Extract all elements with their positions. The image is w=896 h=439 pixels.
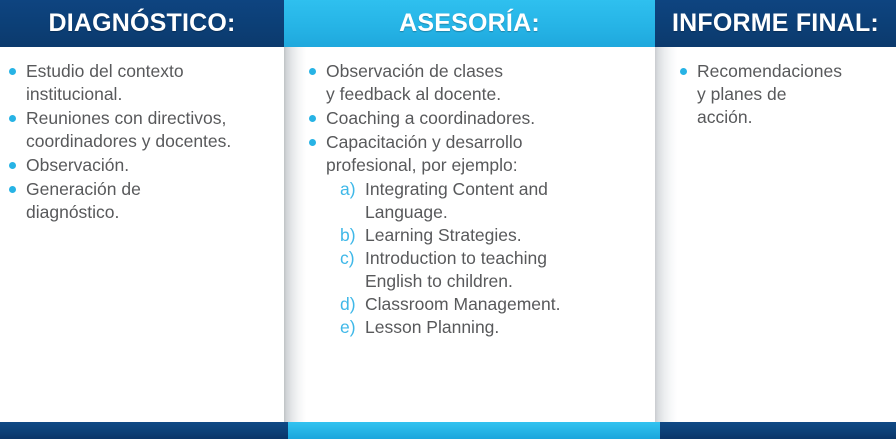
column-informe-final: Recomendaciones y planes de acción. [655, 47, 896, 422]
header-diagnostico-label: DIAGNÓSTICO: [48, 11, 235, 36]
column-diagnostico: Estudio del contexto institucional. Reun… [0, 47, 284, 422]
sublist-item: b) Learning Strategies. [340, 224, 645, 247]
bullet-dot-icon [9, 115, 16, 122]
list-item-line: Coaching a coordinadores. [326, 107, 645, 130]
list-item: Observación de clases y feedback al doce… [306, 60, 645, 106]
list-item-line: Recomendaciones [697, 60, 886, 83]
list-item-line: coordinadores y docentes. [26, 130, 276, 153]
sublist-item: c) Introduction to teaching English to c… [340, 247, 645, 293]
list-item: Reuniones con directivos, coordinadores … [6, 107, 276, 153]
list-item: Coaching a coordinadores. [306, 107, 645, 130]
list-item-line: acción. [697, 106, 886, 129]
header-informe-final-label: INFORME FINAL: [672, 11, 879, 36]
sublist-item-line: Lesson Planning. [365, 316, 645, 339]
list-item-line: Observación de clases [326, 60, 645, 83]
sublist-item-label: d) [340, 293, 356, 316]
sublist-item-line: Integrating Content and [365, 178, 645, 201]
list-item-line: diagnóstico. [26, 201, 276, 224]
list-item-line: institucional. [26, 83, 276, 106]
bullet-dot-icon [680, 68, 687, 75]
footer-segment-right [660, 422, 896, 439]
footer-band [0, 422, 896, 439]
list-item: Observación. [6, 154, 276, 177]
sublist-item-label: b) [340, 224, 356, 247]
list-item: Generación de diagnóstico. [6, 178, 276, 224]
list-item-line: Reuniones con directivos, [26, 107, 276, 130]
columns-area: Estudio del contexto institucional. Reun… [0, 47, 896, 422]
header-asesoria-label: ASESORÍA: [399, 11, 540, 36]
bullet-dot-icon [9, 162, 16, 169]
bullet-dot-icon [9, 186, 16, 193]
slide-canvas: DIAGNÓSTICO: ASESORÍA: INFORME FINAL: Es… [0, 0, 896, 439]
list-item-line: profesional, por ejemplo: [326, 154, 645, 177]
footer-segment-middle [288, 422, 660, 439]
bullet-list-asesoria: Observación de clases y feedback al doce… [306, 60, 645, 177]
list-item-line: Estudio del contexto [26, 60, 276, 83]
sublist-item-label: a) [340, 178, 356, 201]
bullet-list-diagnostico: Estudio del contexto institucional. Reun… [6, 60, 276, 224]
sublist-item-label: e) [340, 316, 356, 339]
list-item-line: Generación de [26, 178, 276, 201]
bullet-list-informe-final: Recomendaciones y planes de acción. [677, 60, 886, 129]
column-asesoria: Observación de clases y feedback al doce… [284, 47, 655, 422]
bullet-dot-icon [9, 68, 16, 75]
footer-segment-left [0, 422, 288, 439]
sublist-item-line: Classroom Management. [365, 293, 645, 316]
sublist-item-line: Learning Strategies. [365, 224, 645, 247]
bullet-dot-icon [309, 139, 316, 146]
list-item: Capacitación y desarrollo profesional, p… [306, 131, 645, 177]
list-item: Estudio del contexto institucional. [6, 60, 276, 106]
header-band: DIAGNÓSTICO: ASESORÍA: INFORME FINAL: [0, 0, 896, 47]
list-item-line: y planes de [697, 83, 886, 106]
sublist-item-line: Language. [365, 201, 645, 224]
bullet-dot-icon [309, 115, 316, 122]
list-item: Recomendaciones y planes de acción. [677, 60, 886, 129]
bullet-dot-icon [309, 68, 316, 75]
sublist-item-label: c) [340, 247, 355, 270]
sublist-item-line: Introduction to teaching [365, 247, 645, 270]
header-diagnostico: DIAGNÓSTICO: [0, 0, 284, 47]
sublist-item: e) Lesson Planning. [340, 316, 645, 339]
sublist-item-line: English to children. [365, 270, 645, 293]
sublist-item: a) Integrating Content and Language. [340, 178, 645, 224]
header-asesoria: ASESORÍA: [284, 0, 655, 47]
list-item-line: Observación. [26, 154, 276, 177]
header-informe-final: INFORME FINAL: [655, 0, 896, 47]
sublist-item: d) Classroom Management. [340, 293, 645, 316]
list-item-line: y feedback al docente. [326, 83, 645, 106]
lettered-sublist-asesoria: a) Integrating Content and Language. b) … [306, 178, 645, 339]
list-item-line: Capacitación y desarrollo [326, 131, 645, 154]
